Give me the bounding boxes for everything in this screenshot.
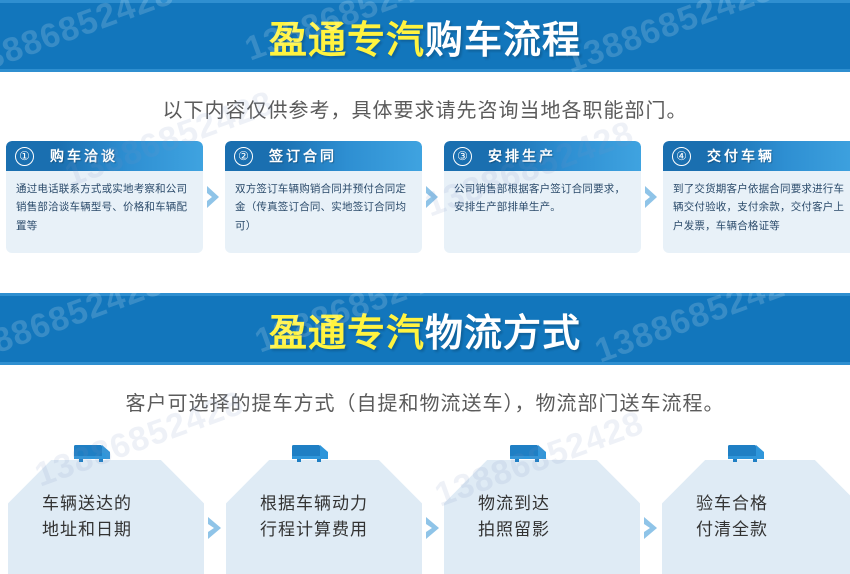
logistics-banner-title: 盈通专汽物流方式 xyxy=(269,302,581,357)
step-card-1[interactable]: ① 购车洽谈 通过电话联系方式或实地考察和公司销售部洽谈车辆型号、价格和车辆配置… xyxy=(6,141,203,253)
step-header-4: ④ 交付车辆 xyxy=(663,141,850,171)
stage-line-1: 根据车辆动力 xyxy=(260,491,422,517)
purchase-banner: 盈通专汽购车流程 xyxy=(0,0,850,72)
logistics-banner: 盈通专汽物流方式 xyxy=(0,293,850,365)
logistics-stage-hex: 物流到达 拍照留影 xyxy=(444,460,640,574)
step-title: 购车洽谈 xyxy=(50,146,118,166)
logistics-stage-hex: 验车合格 付清全款 xyxy=(662,460,850,574)
brand-name: 盈通专汽 xyxy=(269,311,425,355)
section-gap xyxy=(0,263,850,293)
logistics-stages-row: 车辆送达的 地址和日期 根据车辆动力 行程计算费用 物流 xyxy=(0,434,850,574)
step-header-2: ② 签订合同 xyxy=(225,141,422,171)
logistics-stage-4[interactable]: 验车合格 付清全款 xyxy=(662,442,850,574)
brand-name: 盈通专汽 xyxy=(269,18,425,62)
step-number-badge: ① xyxy=(15,147,34,166)
step-title: 安排生产 xyxy=(488,146,556,166)
purchase-subtitle: 以下内容仅供参考，具体要求请先咨询当地各职能部门。 xyxy=(0,72,850,141)
logistics-stage-hex: 车辆送达的 地址和日期 xyxy=(8,460,204,574)
step-body: 双方签订车辆购销合同并预付合同定金（传真签订合同、实地签订合同均可） xyxy=(225,171,422,235)
step-number-badge: ③ xyxy=(453,147,472,166)
truck-icon xyxy=(288,442,334,468)
step-header-1: ① 购车洽谈 xyxy=(6,141,203,171)
truck-icon xyxy=(724,442,770,468)
truck-icon xyxy=(506,442,552,468)
chevron-right-icon-2 xyxy=(422,141,444,253)
logistics-stage-3[interactable]: 物流到达 拍照留影 xyxy=(444,442,640,574)
stage-line-1: 物流到达 xyxy=(478,491,640,517)
step-title: 签订合同 xyxy=(269,146,337,166)
chevron-right-icon-6 xyxy=(640,442,662,574)
step-body: 通过电话联系方式或实地考察和公司销售部洽谈车辆型号、价格和车辆配置等 xyxy=(6,171,203,235)
purchase-steps-row: ① 购车洽谈 通过电话联系方式或实地考察和公司销售部洽谈车辆型号、价格和车辆配置… xyxy=(0,141,850,263)
logistics-stage-2[interactable]: 根据车辆动力 行程计算费用 xyxy=(226,442,422,574)
chevron-right-icon-5 xyxy=(422,442,444,574)
step-header-3: ③ 安排生产 xyxy=(444,141,641,171)
stage-line-2: 行程计算费用 xyxy=(260,517,422,543)
stage-line-2: 拍照留影 xyxy=(478,517,640,543)
stage-line-1: 车辆送达的 xyxy=(42,491,204,517)
stage-line-2: 地址和日期 xyxy=(42,517,204,543)
chevron-right-icon-3 xyxy=(641,141,663,253)
step-body: 公司销售部根据客户签订合同要求，安排生产部排单生产。 xyxy=(444,171,641,217)
truck-icon xyxy=(70,442,116,468)
step-number-badge: ② xyxy=(234,147,253,166)
logistics-stage-hex: 根据车辆动力 行程计算费用 xyxy=(226,460,422,574)
step-card-3[interactable]: ③ 安排生产 公司销售部根据客户签订合同要求，安排生产部排单生产。 xyxy=(444,141,641,253)
stage-line-1: 验车合格 xyxy=(696,491,850,517)
stage-line-2: 付清全款 xyxy=(696,517,850,543)
banner-suffix: 购车流程 xyxy=(425,18,581,62)
step-card-4[interactable]: ④ 交付车辆 到了交货期客户依据合同要求进行车辆交付验收，支付余款，交付客户上户… xyxy=(663,141,850,253)
banner-suffix: 物流方式 xyxy=(425,311,581,355)
step-title: 交付车辆 xyxy=(707,146,775,166)
chevron-right-icon-4 xyxy=(204,442,226,574)
chevron-right-icon-1 xyxy=(203,141,225,253)
step-card-2[interactable]: ② 签订合同 双方签订车辆购销合同并预付合同定金（传真签订合同、实地签订合同均可… xyxy=(225,141,422,253)
purchase-banner-title: 盈通专汽购车流程 xyxy=(269,9,581,64)
logistics-stage-1[interactable]: 车辆送达的 地址和日期 xyxy=(8,442,204,574)
logistics-subtitle: 客户可选择的提车方式（自提和物流送车），物流部门送车流程。 xyxy=(0,365,850,434)
step-body: 到了交货期客户依据合同要求进行车辆交付验收，支付余款，交付客户上户发票，车辆合格… xyxy=(663,171,850,235)
step-number-badge: ④ xyxy=(672,147,691,166)
